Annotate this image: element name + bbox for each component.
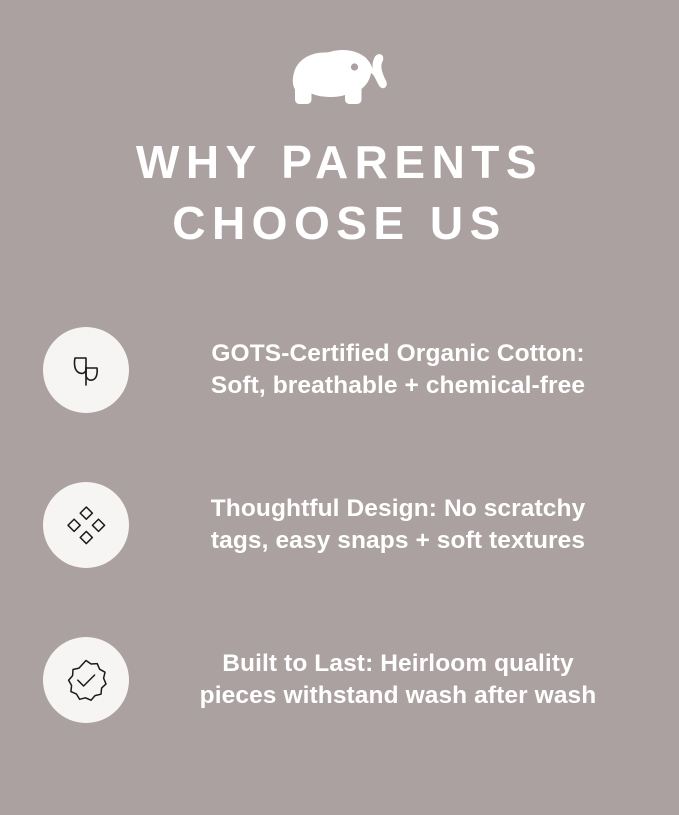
feature-text-thoughtful-design: Thoughtful Design: No scratchy tags, eas… (155, 493, 679, 558)
feature-item-thoughtful-design: Thoughtful Design: No scratchy tags, eas… (0, 482, 679, 568)
feature-icon-badge (43, 637, 129, 723)
why-parents-choose-us-panel: WHY PARENTS CHOOSE US GOTS-Certified Org… (0, 0, 679, 815)
feature-text-organic-cotton: GOTS-Certified Organic Cotton: Soft, bre… (155, 338, 679, 403)
page-title-line-1: WHY PARENTS (30, 132, 650, 193)
sprout-leaf-icon (63, 347, 109, 393)
feature-text-line-2: Soft, breathable + chemical-free (155, 370, 641, 403)
verified-badge-check-icon (62, 656, 110, 704)
feature-list: GOTS-Certified Organic Cotton: Soft, bre… (0, 327, 679, 723)
feature-item-built-to-last: Built to Last: Heirloom quality pieces w… (0, 637, 679, 723)
feature-text-line-1: Built to Last: Heirloom quality (155, 648, 641, 681)
page-title-line-2: CHOOSE US (30, 193, 650, 254)
page-title: WHY PARENTS CHOOSE US (30, 132, 650, 254)
elephant-logo-icon (285, 34, 395, 108)
four-diamonds-icon (63, 502, 109, 548)
feature-text-line-1: Thoughtful Design: No scratchy (155, 493, 641, 526)
feature-text-line-2: tags, easy snaps + soft textures (155, 525, 641, 558)
feature-text-built-to-last: Built to Last: Heirloom quality pieces w… (155, 648, 679, 713)
feature-icon-badge (43, 482, 129, 568)
feature-icon-badge (43, 327, 129, 413)
feature-text-line-1: GOTS-Certified Organic Cotton: (155, 338, 641, 371)
feature-item-organic-cotton: GOTS-Certified Organic Cotton: Soft, bre… (0, 327, 679, 413)
feature-text-line-2: pieces withstand wash after wash (155, 680, 641, 713)
